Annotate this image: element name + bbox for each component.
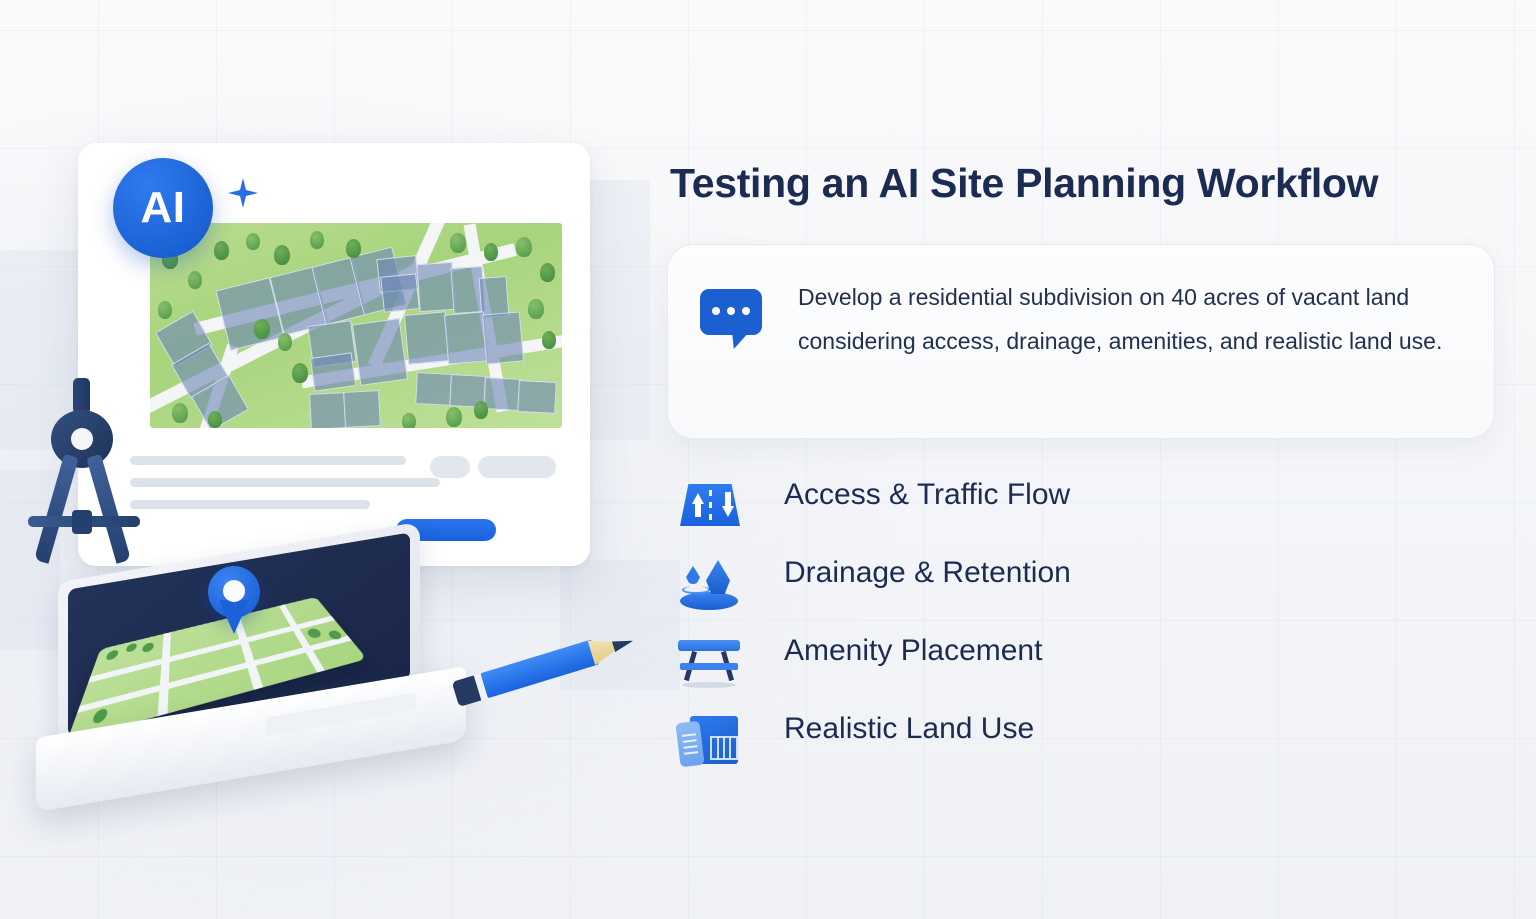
feature-item-access-traffic-flow[interactable]: Access & Traffic Flow (674, 470, 1494, 548)
card-pill-2[interactable] (478, 456, 556, 478)
hero-illustration: AI (0, 0, 660, 919)
feature-item-realistic-land-use[interactable]: Realistic Land Use (674, 704, 1494, 782)
page-title: Testing an AI Site Planning Workflow (670, 160, 1520, 207)
feature-label: Access & Traffic Flow (784, 478, 1070, 512)
blueprint-icon (674, 710, 746, 768)
drafting-compass-icon (20, 378, 148, 568)
feature-label: Drainage & Retention (784, 556, 1071, 590)
map-pin-icon (208, 566, 260, 638)
feature-item-amenity-placement[interactable]: Amenity Placement (674, 626, 1494, 704)
feature-label: Realistic Land Use (784, 712, 1034, 746)
sparkle-star-icon (228, 178, 258, 208)
feature-item-drainage-retention[interactable]: Drainage & Retention (674, 548, 1494, 626)
laptop-trackpad (266, 692, 416, 735)
road-traffic-icon (674, 476, 746, 534)
pencil-icon (448, 614, 645, 724)
card-pill-1[interactable] (430, 456, 470, 478)
prompt-text: Develop a residential subdivision on 40 … (798, 275, 1468, 363)
prompt-card: Develop a residential subdivision on 40 … (667, 244, 1495, 439)
ai-badge: AI (113, 158, 213, 258)
site-plan-map (150, 223, 562, 428)
water-drop-retention-icon (674, 554, 746, 612)
content-panel: Testing an AI Site Planning Workflow Dev… (660, 0, 1536, 919)
feature-label: Amenity Placement (784, 634, 1042, 668)
speech-bubble-icon (700, 289, 762, 341)
feature-list: Access & Traffic Flow Drainage & Retenti… (674, 470, 1494, 782)
picnic-table-icon (674, 632, 746, 690)
